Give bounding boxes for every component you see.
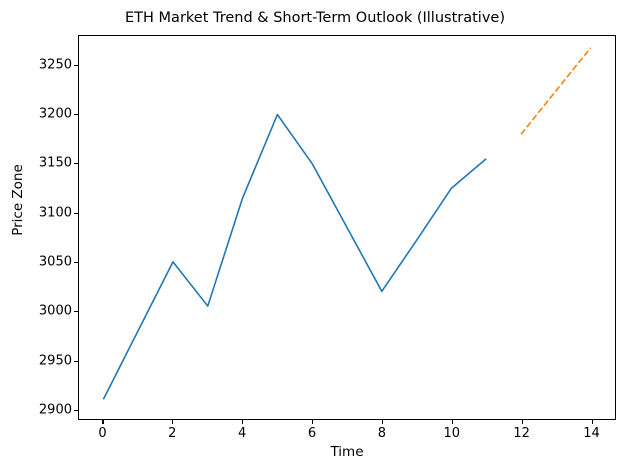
x-tick-mark (592, 420, 593, 424)
x-tick-mark (242, 420, 243, 424)
y-tick-label: 3150 (16, 156, 72, 171)
x-tick-mark (382, 420, 383, 424)
x-axis-label: Time (78, 444, 616, 460)
y-axis-tick-labels: 29002950300030503100315032003250 (0, 35, 72, 420)
x-tick-label: 10 (432, 426, 472, 441)
series-historical-trend (103, 115, 486, 400)
series-short-term-outlook (521, 48, 591, 134)
plot-lines (79, 36, 615, 419)
x-tick-label: 8 (362, 426, 402, 441)
x-tick-label: 12 (502, 426, 542, 441)
y-tick-label: 3250 (16, 57, 72, 72)
x-tick-label: 14 (572, 426, 612, 441)
y-tick-label: 2950 (16, 353, 72, 368)
x-tick-mark (102, 420, 103, 424)
x-tick-mark (522, 420, 523, 424)
x-tick-mark (452, 420, 453, 424)
x-tick-mark (312, 420, 313, 424)
chart-figure: ETH Market Trend & Short-Term Outlook (I… (0, 0, 630, 470)
y-tick-label: 3050 (16, 255, 72, 270)
x-tick-label: 4 (222, 426, 262, 441)
y-tick-label: 3200 (16, 106, 72, 121)
y-tick-label: 3100 (16, 205, 72, 220)
x-tick-mark (172, 420, 173, 424)
x-axis-ticks: 02468101214 (78, 420, 616, 444)
plot-area (78, 35, 616, 420)
y-tick-label: 3000 (16, 304, 72, 319)
x-tick-label: 2 (152, 426, 192, 441)
y-tick-label: 2900 (16, 403, 72, 418)
x-tick-label: 6 (292, 426, 332, 441)
chart-title: ETH Market Trend & Short-Term Outlook (I… (0, 10, 630, 26)
x-tick-label: 0 (82, 426, 122, 441)
